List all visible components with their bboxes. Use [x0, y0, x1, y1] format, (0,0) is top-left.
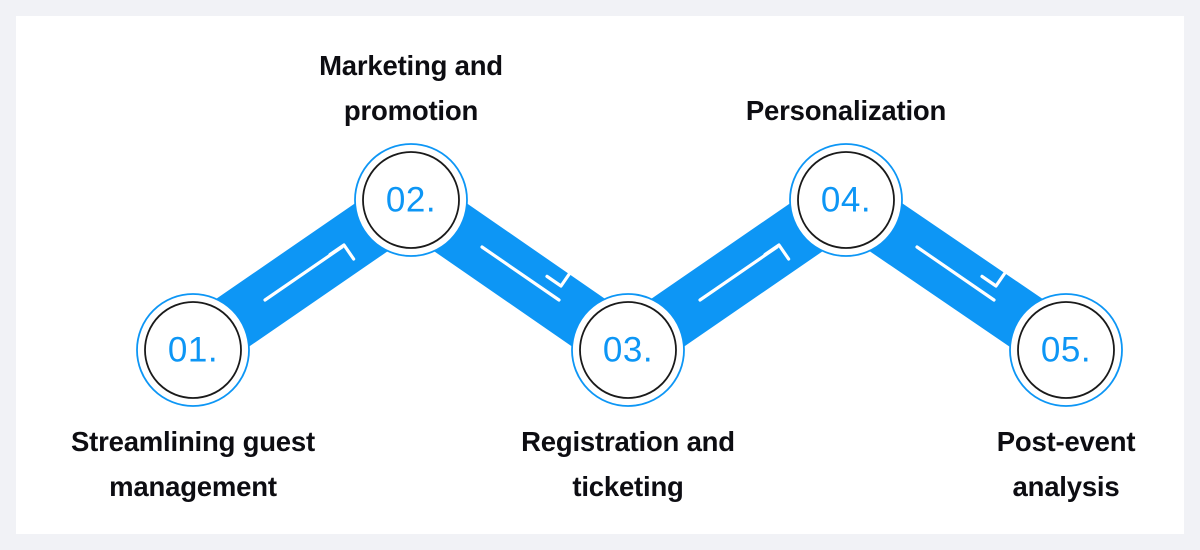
step-label-05: Post-event analysis	[901, 420, 1200, 509]
step-circle-02[interactable]	[355, 144, 467, 256]
step-circle-04[interactable]	[790, 144, 902, 256]
step-label-04: Personalization	[646, 89, 1046, 134]
step-label-03: Registration and ticketing	[413, 420, 843, 509]
diagram-stage: 01. 02. 03. 04. 05. Streamlining guest m…	[0, 0, 1200, 550]
diagram-canvas: 01. 02. 03. 04. 05. Streamlining guest m…	[0, 0, 1200, 550]
step-circle-05[interactable]	[1010, 294, 1122, 406]
step-circle-01[interactable]	[137, 294, 249, 406]
step-label-01: Streamlining guest management	[0, 420, 408, 509]
step-circle-03[interactable]	[572, 294, 684, 406]
step-label-02: Marketing and promotion	[211, 44, 611, 133]
